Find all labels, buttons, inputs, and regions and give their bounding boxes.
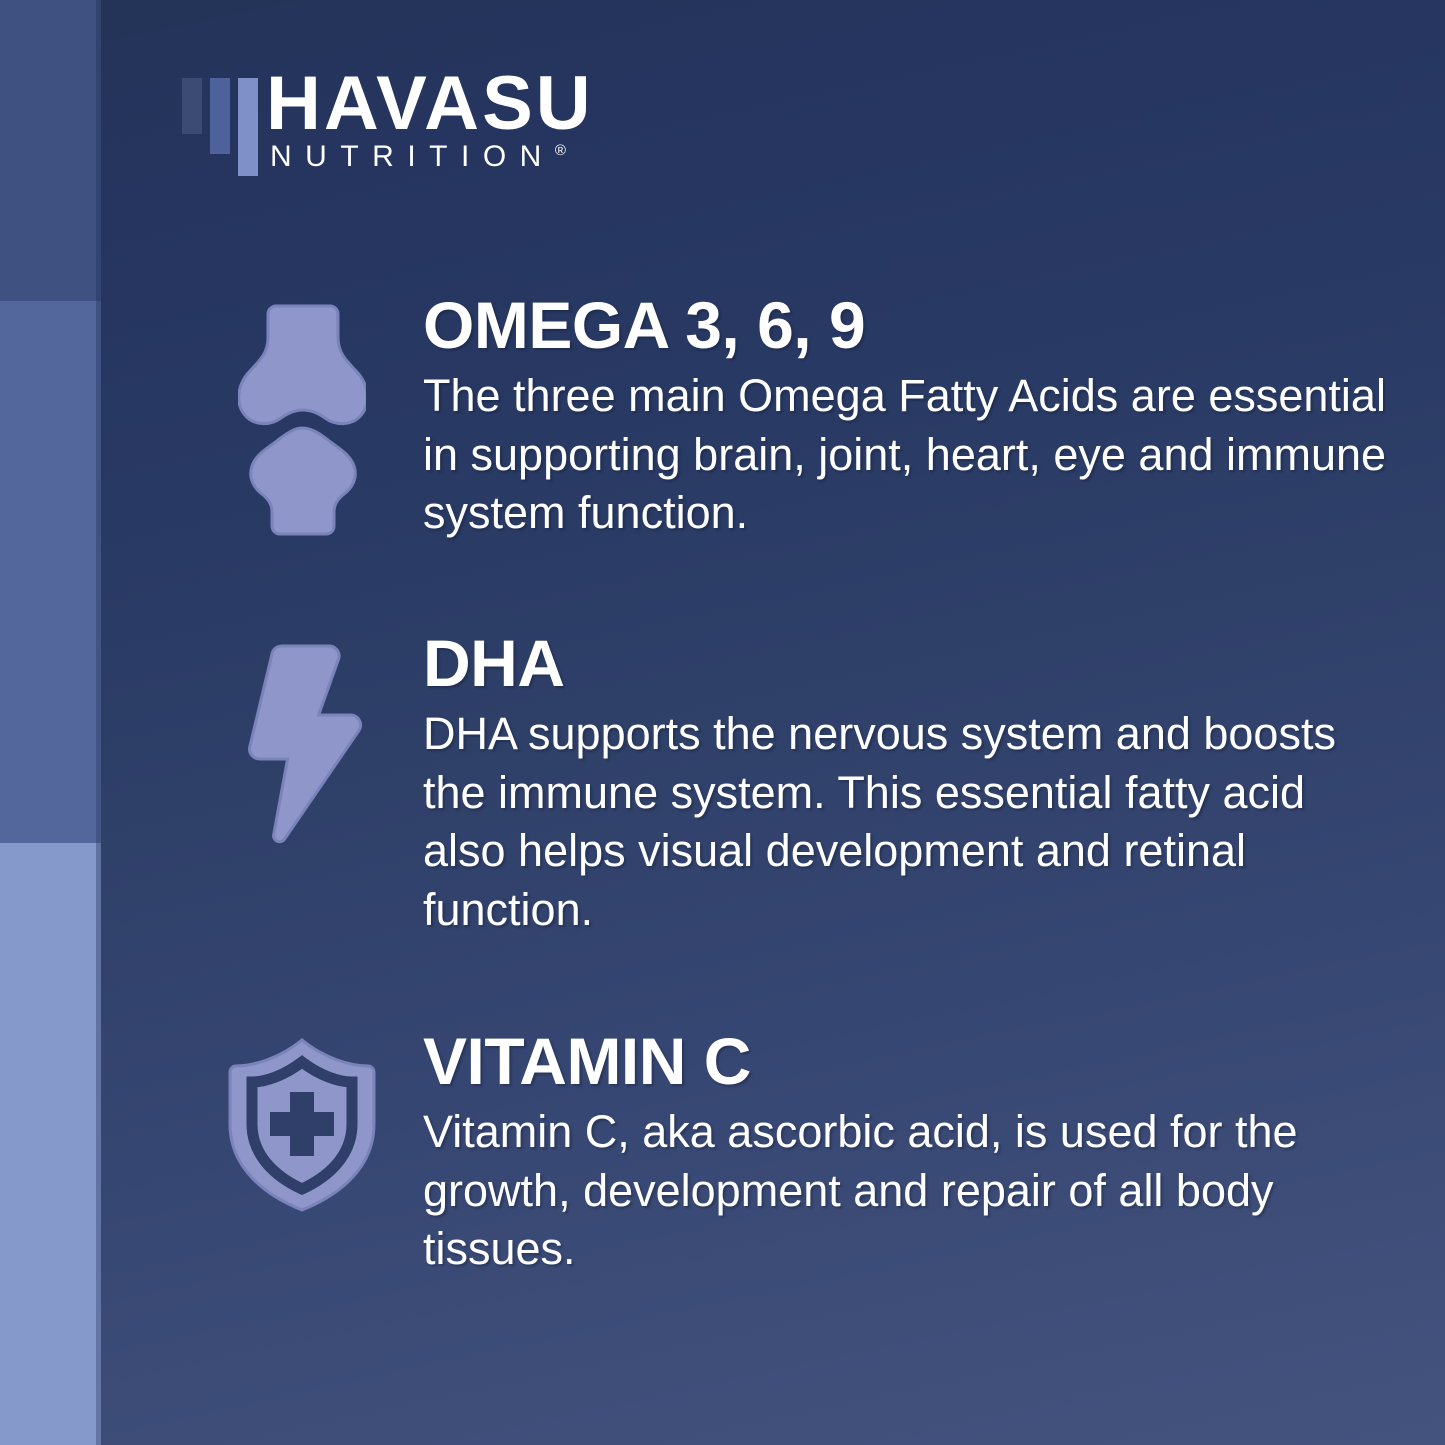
- feature-title: OMEGA 3, 6, 9: [423, 292, 1393, 359]
- infographic-canvas: HAVASU NUTRITION® OMEGA 3, 6, 9 The thre…: [0, 0, 1445, 1445]
- brand-subtitle: NUTRITION: [270, 140, 555, 173]
- logo-bars-icon: [182, 78, 266, 178]
- knee-joint-icon: [214, 300, 389, 540]
- feature-title: VITAMIN C: [423, 1028, 1393, 1095]
- edge-block-middle: [0, 301, 96, 843]
- left-edge-block-stack: [0, 0, 101, 1445]
- logo-bar-large: [238, 78, 258, 176]
- feature-description: DHA supports the nervous system and boos…: [423, 705, 1393, 939]
- lightning-bolt-icon: [214, 638, 389, 878]
- brand-name: HAVASU: [266, 66, 594, 142]
- feature-description: The three main Omega Fatty Acids are ess…: [423, 367, 1393, 543]
- feature-text-block: DHA DHA supports the nervous system and …: [423, 630, 1393, 939]
- shield-cross-icon: [214, 1036, 389, 1276]
- registered-trademark-icon: ®: [555, 142, 566, 159]
- feature-title: DHA: [423, 630, 1393, 697]
- feature-description: Vitamin C, aka ascorbic acid, is used fo…: [423, 1103, 1393, 1279]
- edge-block-bottom: [0, 843, 96, 1445]
- edge-block-top: [0, 0, 96, 301]
- logo-bar-small: [182, 78, 202, 134]
- feature-text-block: VITAMIN C Vitamin C, aka ascorbic acid, …: [423, 1028, 1393, 1279]
- brand-logo: HAVASU NUTRITION®: [182, 78, 882, 188]
- feature-text-block: OMEGA 3, 6, 9 The three main Omega Fatty…: [423, 292, 1393, 543]
- brand-subtitle-wrap: NUTRITION®: [270, 142, 566, 172]
- logo-bar-medium: [210, 78, 230, 154]
